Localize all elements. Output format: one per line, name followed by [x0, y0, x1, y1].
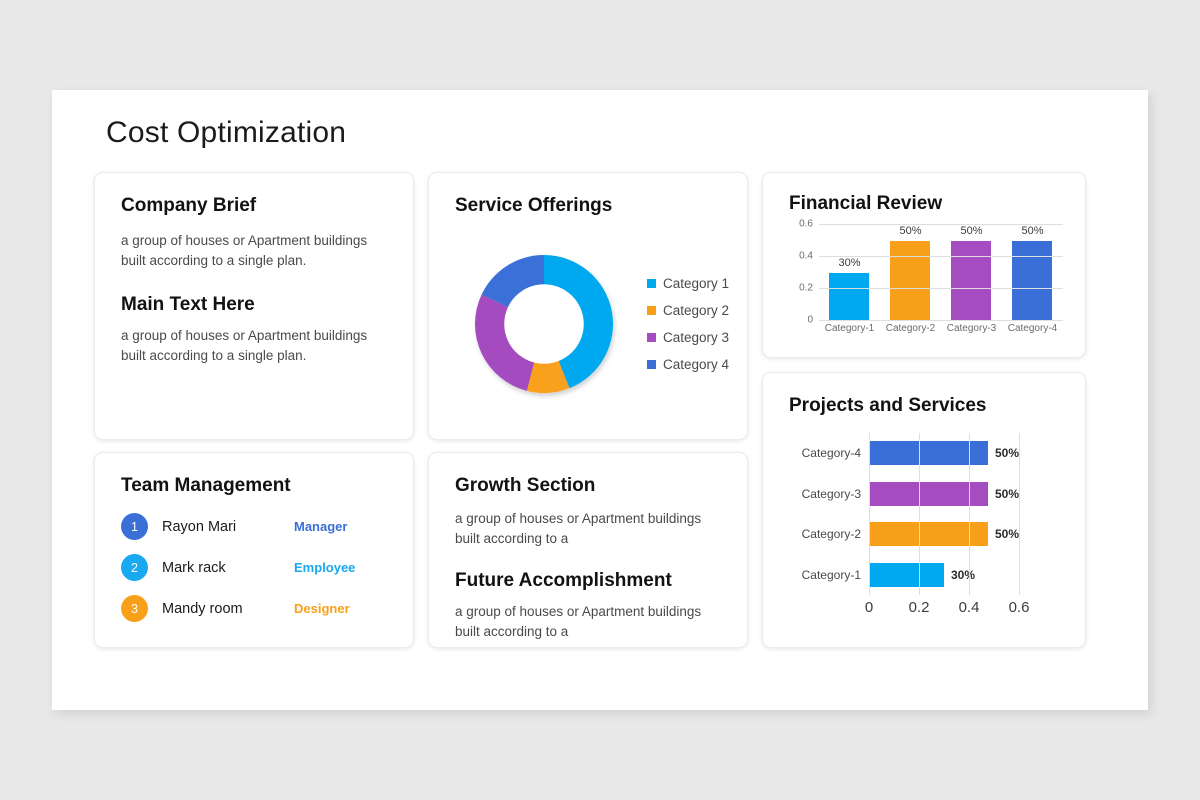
service-offerings-title: Service Offerings — [455, 195, 612, 217]
card-growth-section: Growth Section a group of houses or Apar… — [428, 452, 748, 648]
x-axis-tick-label: Category-4 — [1003, 323, 1062, 334]
team-member-row[interactable]: 2Mark rackEmployee — [121, 554, 387, 581]
company-brief-paragraph: a group of houses or Apartment buildings… — [121, 231, 387, 270]
bar[interactable]: 30% — [829, 273, 869, 321]
bar-value-label: 50% — [960, 225, 982, 237]
x-axis-tick-label: Category-1 — [820, 323, 879, 334]
card-financial-review: Financial Review 30%50%50%50% 00.20.40.6… — [762, 172, 1086, 358]
legend-label: Category 4 — [663, 357, 729, 372]
y-axis-tick-label: 0.2 — [799, 283, 813, 294]
x-axis-tick-label: Category-2 — [881, 323, 940, 334]
y-axis-tick-label: 0.4 — [799, 251, 813, 262]
y-axis-tick-label: 0 — [807, 315, 813, 326]
bar-value-label: 50% — [995, 446, 1019, 460]
legend-swatch-icon — [647, 360, 656, 369]
company-brief-sub-paragraph: a group of houses or Apartment buildings… — [121, 326, 387, 365]
page-title: Cost Optimization — [106, 116, 346, 150]
vertical-x-axis-labels: Category-1Category-2Category-3Category-4 — [819, 323, 1063, 343]
horizontal-bar-plot: Category-450%Category-350%Category-250%C… — [869, 433, 1019, 595]
bar[interactable] — [869, 441, 988, 465]
slide: Cost Optimization Company Brief a group … — [52, 90, 1148, 710]
projects-services-chart: Category-450%Category-350%Category-250%C… — [785, 429, 1067, 621]
team-member-number-badge: 2 — [121, 554, 148, 581]
card-projects-services: Projects and Services Category-450%Categ… — [762, 372, 1086, 648]
team-member-role: Designer — [294, 601, 350, 616]
gridline — [919, 433, 920, 595]
x-axis-tick-label: Category-3 — [942, 323, 1001, 334]
y-axis-tick-label: Category-4 — [802, 446, 861, 460]
growth-section-sub-paragraph: a group of houses or Apartment buildings… — [455, 602, 721, 641]
card-team-management: Team Management 1Rayon MariManager2Mark … — [94, 452, 414, 648]
gridline: 0.6 — [819, 224, 1063, 225]
bar-value-label: 50% — [899, 225, 921, 237]
bar-value-label: 30% — [951, 568, 975, 582]
horizontal-bars: Category-450%Category-350%Category-250%C… — [869, 433, 1019, 595]
y-axis-tick-label: Category-3 — [802, 487, 861, 501]
legend-item[interactable]: Category 1 — [647, 276, 729, 291]
bar-value-label: 30% — [838, 257, 860, 269]
growth-section-title: Growth Section — [455, 475, 721, 497]
vertical-bar-plot: 30%50%50%50% 00.20.40.6 — [819, 225, 1063, 321]
team-list: 1Rayon MariManager2Mark rackEmployee3Man… — [121, 513, 387, 622]
gridline: 0.4 — [819, 256, 1063, 257]
company-brief-subtitle: Main Text Here — [121, 294, 387, 316]
bar[interactable] — [869, 563, 944, 587]
card-company-brief: Company Brief a group of houses or Apart… — [94, 172, 414, 440]
legend-item[interactable]: Category 3 — [647, 330, 729, 345]
bar[interactable] — [869, 522, 988, 546]
legend-item[interactable]: Category 4 — [647, 357, 729, 372]
donut-chart — [469, 249, 619, 399]
vertical-bars: 30%50%50%50% — [819, 225, 1063, 321]
legend-swatch-icon — [647, 333, 656, 342]
bar[interactable]: 50% — [951, 241, 991, 321]
legend-item[interactable]: Category 2 — [647, 303, 729, 318]
y-axis-tick-label: Category-2 — [802, 527, 861, 541]
donut-legend: Category 1 Category 2 Category 3 Categor… — [647, 276, 729, 372]
bar-row: Category-450% — [869, 441, 1019, 465]
bar-row: Category-130% — [869, 563, 1019, 587]
financial-review-chart: 30%50%50%50% 00.20.40.6 Category-1Catego… — [783, 225, 1067, 343]
bar-row: Category-250% — [869, 522, 1019, 546]
team-member-role: Manager — [294, 519, 347, 534]
financial-review-title: Financial Review — [789, 193, 942, 215]
legend-label: Category 3 — [663, 330, 729, 345]
gridline — [1019, 433, 1020, 595]
y-axis-tick-label: 0.6 — [799, 219, 813, 230]
bar-value-label: 50% — [995, 487, 1019, 501]
gridline — [969, 433, 970, 595]
donut-chart-area: Category 1 Category 2 Category 3 Categor… — [451, 229, 747, 419]
team-member-role: Employee — [294, 560, 355, 575]
x-axis-tick-label: 0.2 — [909, 599, 930, 616]
x-axis-tick-label: 0 — [865, 599, 873, 616]
bar[interactable] — [869, 482, 988, 506]
team-member-row[interactable]: 3Mandy roomDesigner — [121, 595, 387, 622]
bar[interactable]: 50% — [1012, 241, 1052, 321]
projects-services-title: Projects and Services — [789, 395, 987, 417]
team-member-number-badge: 3 — [121, 595, 148, 622]
y-axis-tick-label: Category-1 — [802, 568, 861, 582]
horizontal-x-axis-labels: 00.20.40.6 — [869, 599, 1019, 621]
team-member-name: Mark rack — [162, 560, 294, 576]
gridline — [869, 433, 870, 595]
gridline: 0.2 — [819, 288, 1063, 289]
donut-svg — [469, 249, 619, 399]
team-management-title: Team Management — [121, 475, 387, 497]
card-service-offerings: Service Offerings Category 1 — [428, 172, 748, 440]
team-member-row[interactable]: 1Rayon MariManager — [121, 513, 387, 540]
x-axis-tick-label: 0.6 — [1009, 599, 1030, 616]
bar-value-label: 50% — [1021, 225, 1043, 237]
company-brief-title: Company Brief — [121, 195, 387, 217]
team-member-name: Mandy room — [162, 601, 294, 617]
team-member-name: Rayon Mari — [162, 519, 294, 535]
growth-section-paragraph: a group of houses or Apartment buildings… — [455, 509, 721, 548]
bar-row: Category-350% — [869, 482, 1019, 506]
bar-value-label: 50% — [995, 527, 1019, 541]
team-member-number-badge: 1 — [121, 513, 148, 540]
gridline: 0 — [819, 320, 1063, 321]
growth-section-subtitle: Future Accomplishment — [455, 570, 721, 592]
legend-swatch-icon — [647, 306, 656, 315]
legend-label: Category 2 — [663, 303, 729, 318]
x-axis-tick-label: 0.4 — [959, 599, 980, 616]
bar[interactable]: 50% — [890, 241, 930, 321]
legend-swatch-icon — [647, 279, 656, 288]
legend-label: Category 1 — [663, 276, 729, 291]
